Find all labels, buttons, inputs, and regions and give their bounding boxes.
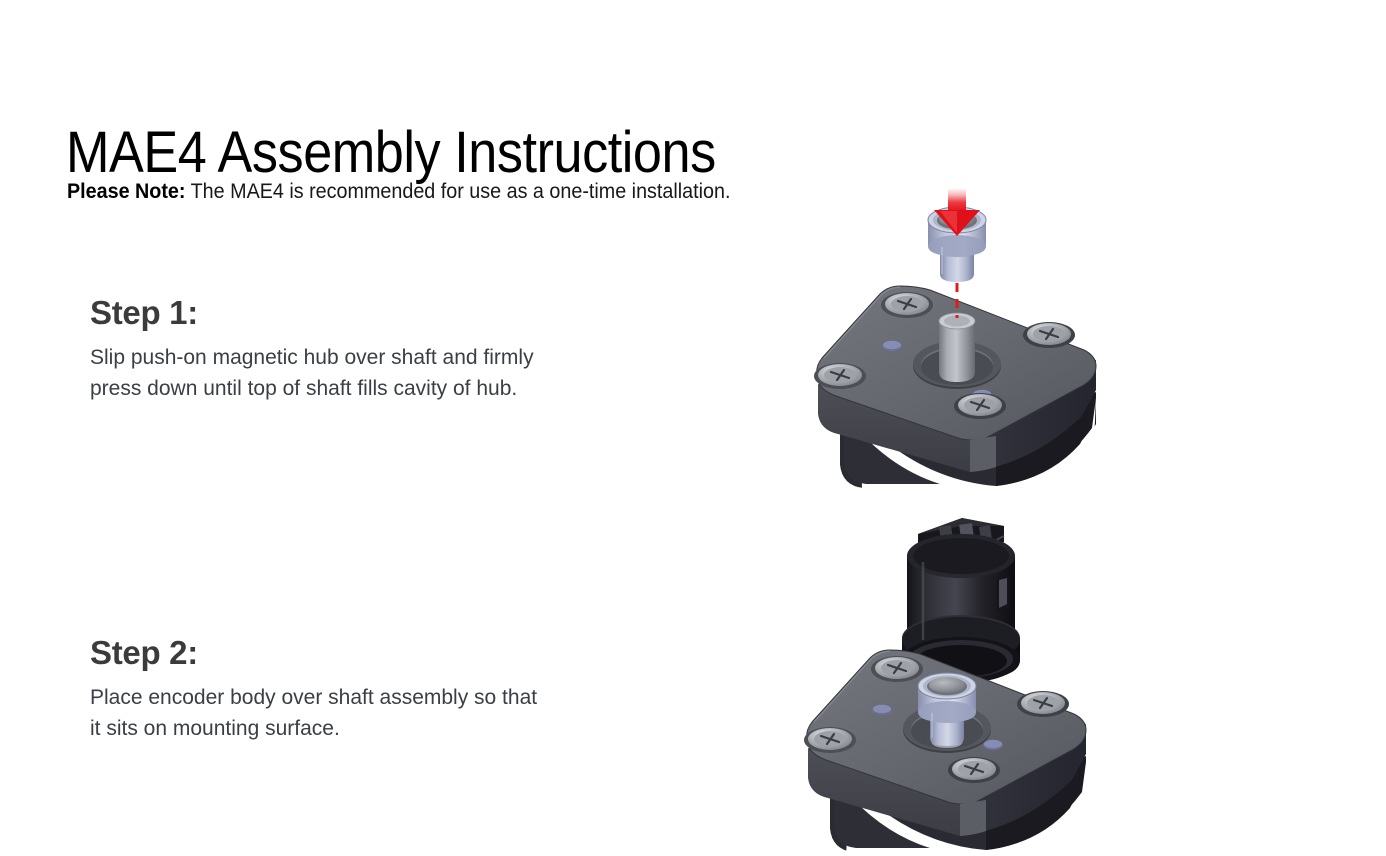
please-note-body: The MAE4 is recommended for use as a one…: [185, 180, 730, 203]
please-note-label: Please Note:: [67, 180, 185, 203]
step-1-illustration: [800, 188, 1140, 508]
step-1-heading: Step 1:: [90, 295, 710, 331]
step-2-heading: Step 2:: [90, 635, 710, 671]
phillips-screw: [1023, 322, 1075, 348]
step-1-body-line-1: Slip push-on magnetic hub over shaft and…: [90, 343, 630, 373]
document-page: MAE4 Assembly Instructions Please Note: …: [0, 0, 1386, 844]
please-note-line: Please Note: The MAE4 is recommended for…: [67, 179, 730, 205]
phillips-screw: [871, 656, 923, 682]
page-title: MAE4 Assembly Instructions: [66, 123, 716, 184]
step-2-illustration: [790, 516, 1140, 856]
step-2-body: Place encoder body over shaft assembly s…: [90, 683, 630, 744]
phillips-screw: [954, 393, 1006, 419]
phillips-screw: [948, 757, 1000, 783]
motor-shaft: [939, 313, 975, 382]
step-2-body-line-2: it sits on mounting surface.: [90, 714, 630, 744]
phillips-screw: [1017, 691, 1069, 717]
step-2-body-line-1: Place encoder body over shaft assembly s…: [90, 683, 630, 713]
step-2-block: Step 2: Place encoder body over shaft as…: [90, 635, 710, 744]
step-1-block: Step 1: Slip push-on magnetic hub over s…: [90, 295, 710, 404]
phillips-screw: [814, 363, 866, 389]
step-1-body-line-2: press down until top of shaft fills cavi…: [90, 374, 630, 404]
phillips-screw: [804, 727, 856, 753]
step-1-body: Slip push-on magnetic hub over shaft and…: [90, 343, 630, 404]
phillips-screw: [881, 292, 933, 318]
